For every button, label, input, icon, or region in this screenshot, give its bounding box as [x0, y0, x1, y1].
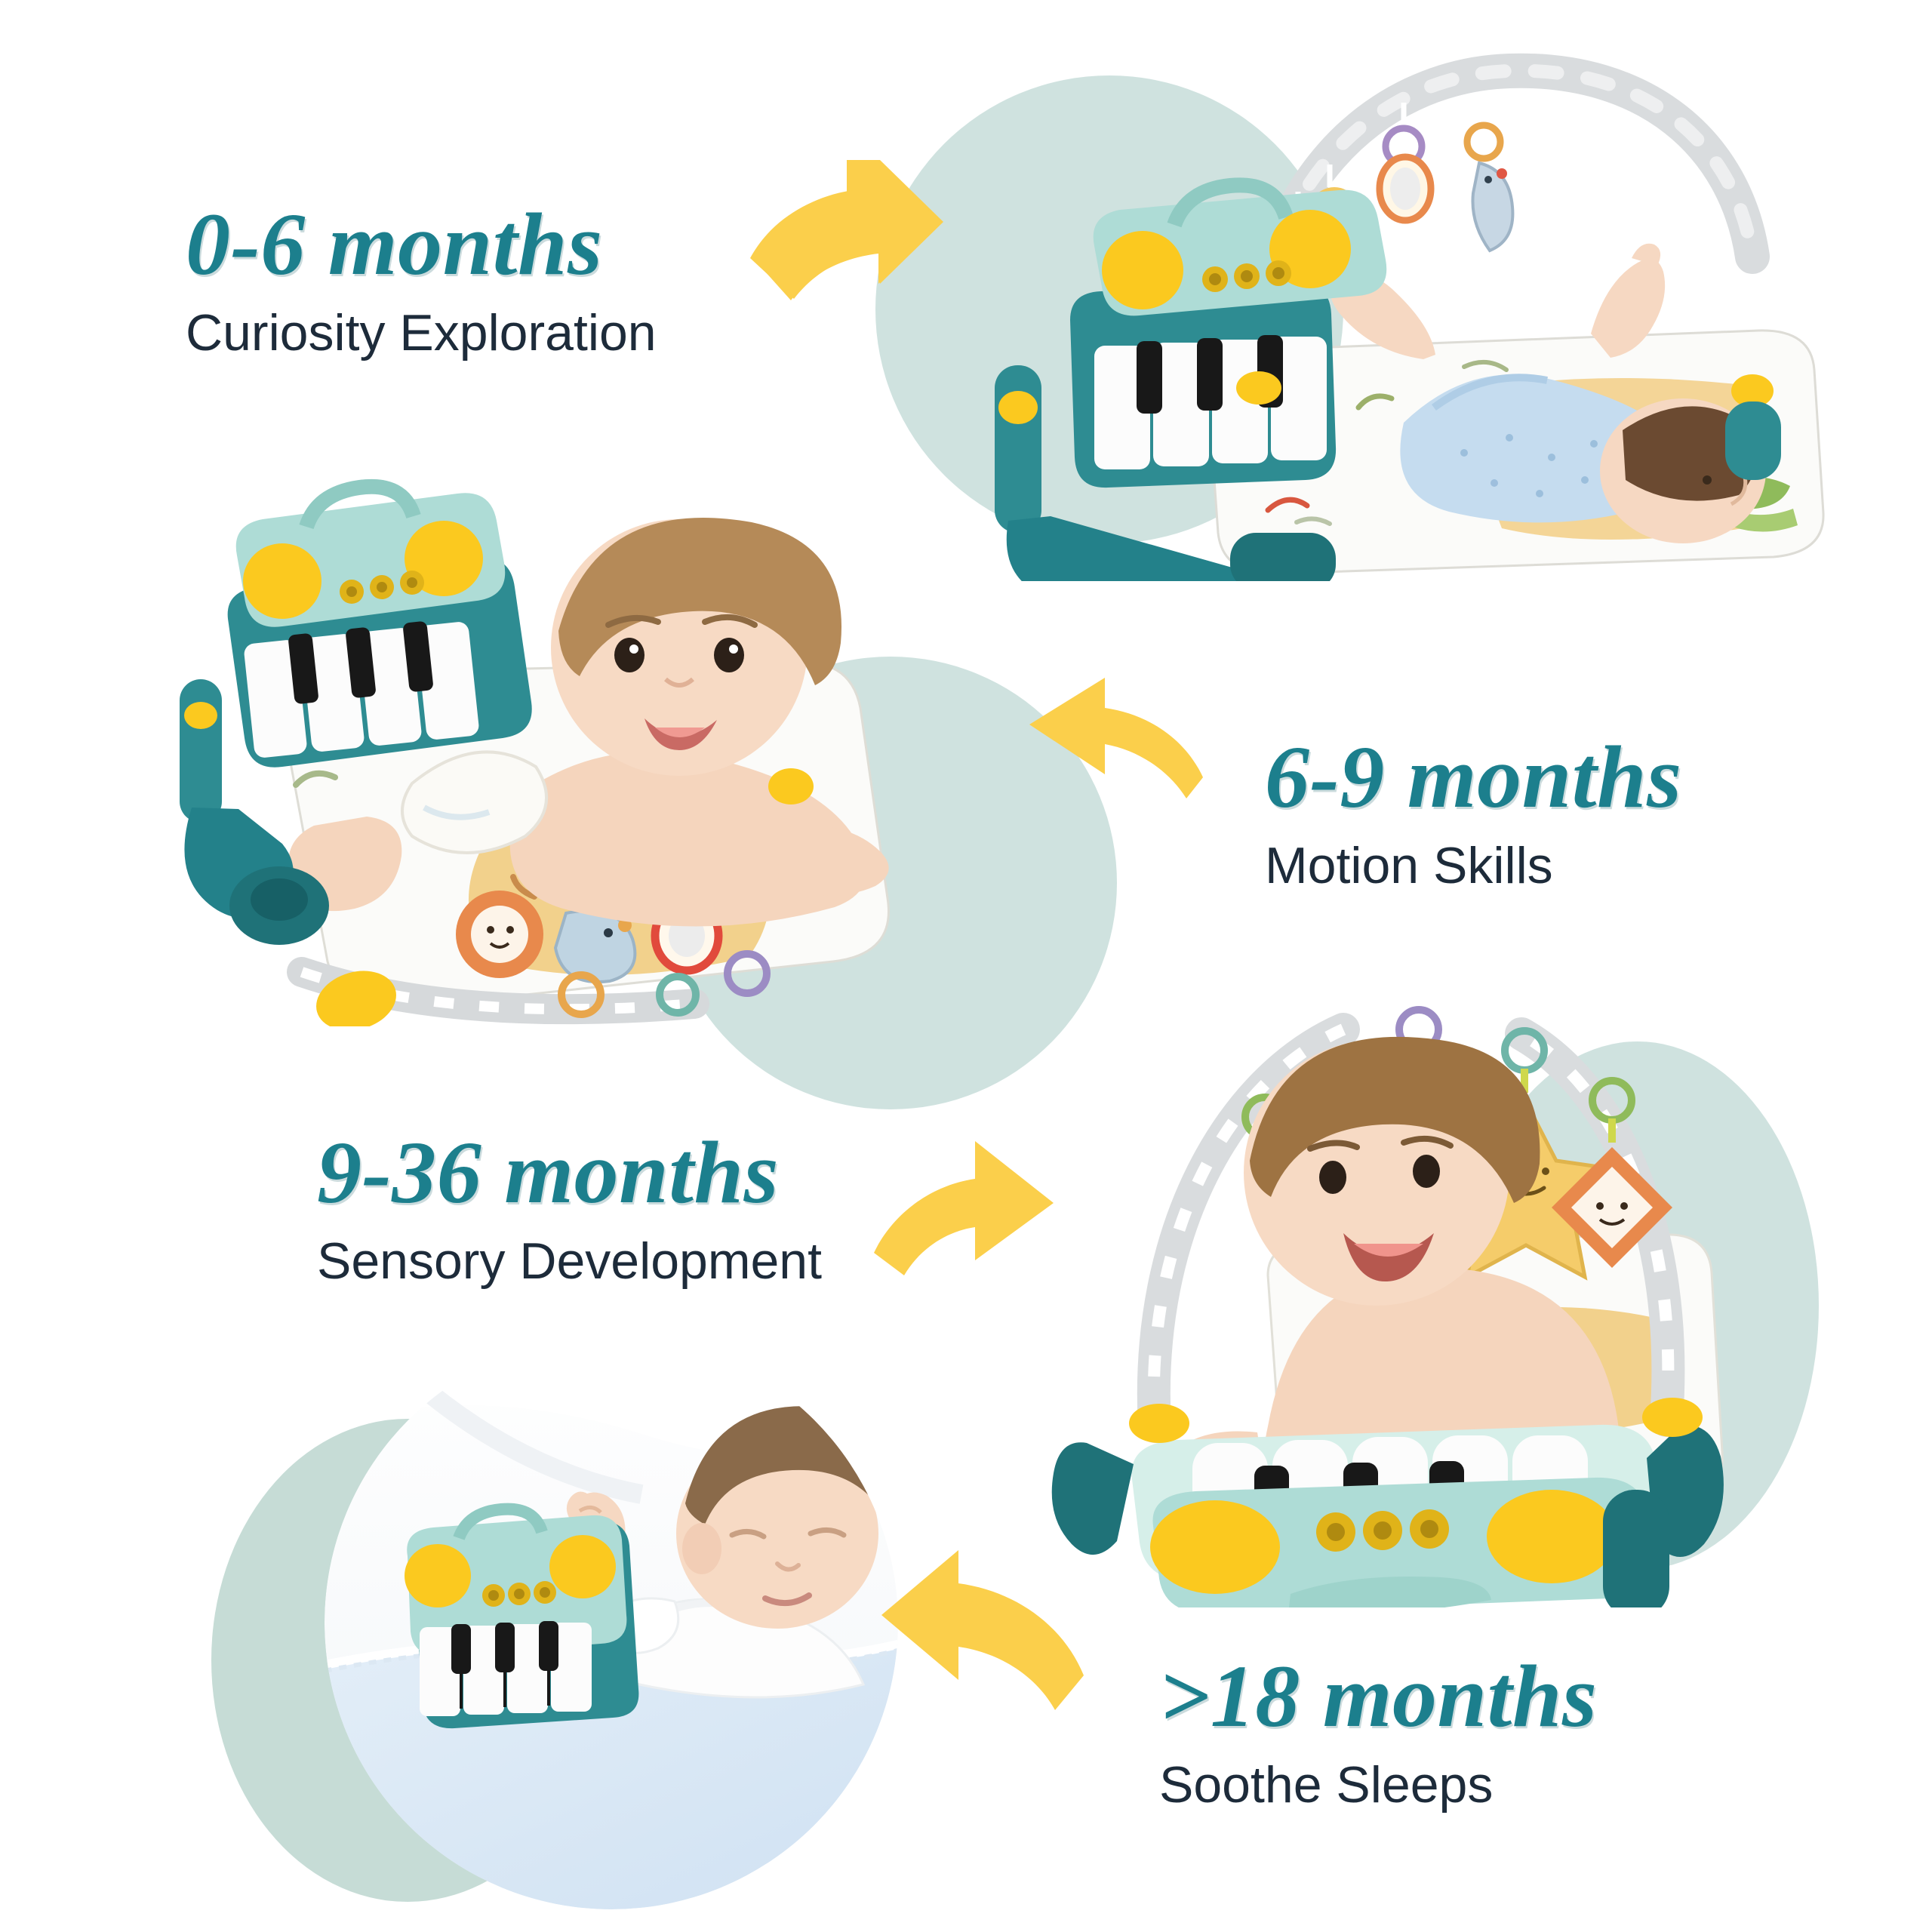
age-subtitle-0-6: Curiosity Exploration	[186, 303, 657, 362]
photo-stage-9-36	[1041, 1004, 1826, 1607]
stage-label-6-9: 6-9 months Motion Skills	[1265, 731, 1682, 895]
infographic-canvas: 0-6 months Curiosity Exploration	[0, 0, 1932, 1932]
toy-lion-rattle	[456, 891, 543, 978]
product-illustration-9-36	[1041, 1004, 1826, 1607]
age-subtitle-9-36: Sensory Development	[317, 1232, 822, 1291]
photo-stage-6-9	[158, 453, 989, 1026]
control-panel	[1094, 185, 1387, 315]
arrow-right-1	[747, 143, 996, 309]
stage-label-0-6: 0-6 months Curiosity Exploration	[186, 198, 657, 362]
product-illustration-18plus	[325, 1336, 898, 1909]
product-illustration-0-6	[981, 30, 1872, 581]
age-title-0-6: 0-6 months	[186, 198, 657, 291]
arrow-left-1	[1011, 672, 1245, 845]
hanging-toy-dolphin	[1467, 100, 1512, 251]
detached-piano-keyboard	[405, 1509, 638, 1729]
photo-stage-18plus	[325, 1336, 898, 1909]
product-illustration-6-9	[158, 453, 989, 1026]
stage-label-18plus: >18 months Soothe Sleeps	[1159, 1650, 1597, 1814]
stage-label-9-36: 9-36 months Sensory Development	[317, 1126, 822, 1291]
age-title-18plus: >18 months	[1159, 1650, 1597, 1743]
toy-whale	[555, 911, 635, 982]
age-subtitle-18plus: Soothe Sleeps	[1159, 1755, 1597, 1814]
age-subtitle-6-9: Motion Skills	[1265, 836, 1682, 895]
age-title-6-9: 6-9 months	[1265, 731, 1682, 824]
photo-stage-0-6	[981, 30, 1872, 581]
arrow-left-2	[868, 1540, 1117, 1721]
age-title-9-36: 9-36 months	[317, 1126, 822, 1220]
